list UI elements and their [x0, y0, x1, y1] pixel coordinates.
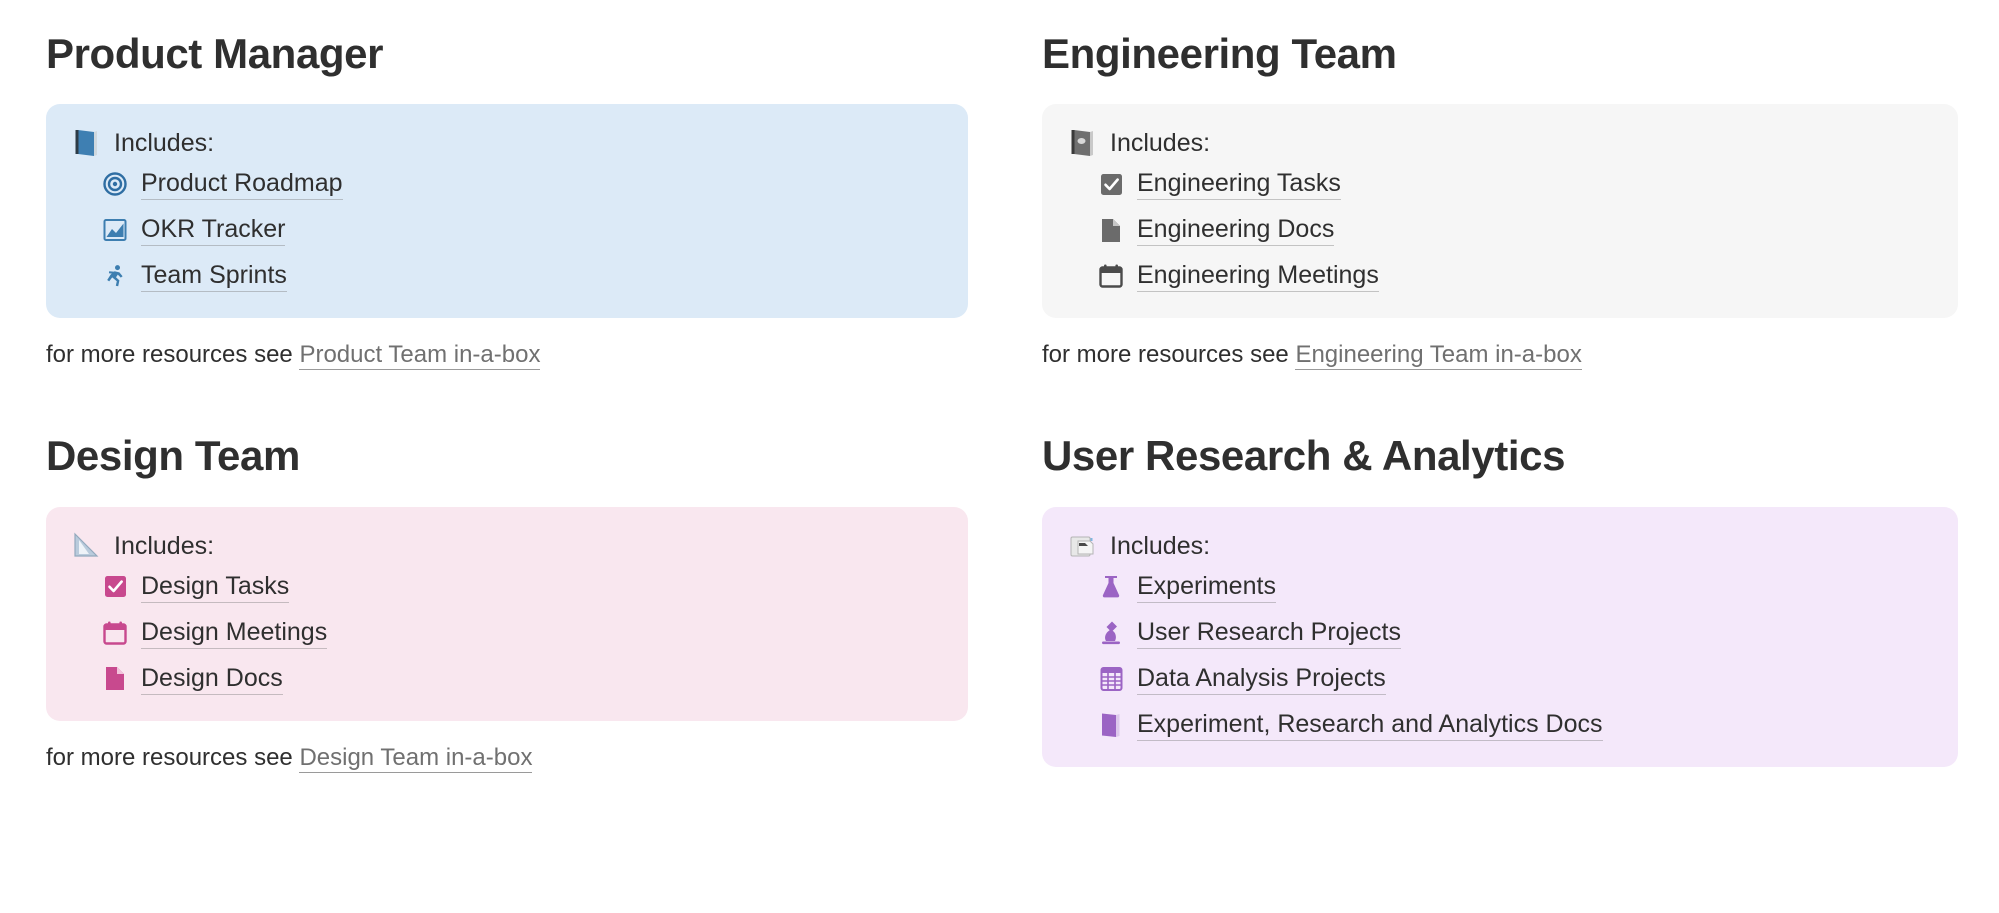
- list-item[interactable]: Engineering Docs: [1098, 214, 1932, 246]
- runner-icon: [102, 262, 128, 290]
- footer-prefix: for more resources see: [46, 744, 293, 771]
- includes-label: Includes:: [114, 126, 214, 160]
- item-list-user-research-analytics: Experiments User Research Projects: [1068, 571, 1932, 741]
- list-item-label: Data Analysis Projects: [1137, 663, 1386, 695]
- list-item[interactable]: Experiments: [1098, 571, 1932, 603]
- footer-prefix: for more resources see: [46, 341, 293, 368]
- page-title-engineering-team: Engineering Team: [1042, 30, 1958, 78]
- flask-icon: [1098, 573, 1124, 601]
- card-user-research-analytics: Includes: Experiments: [1042, 507, 1958, 767]
- list-item-label: Team Sprints: [141, 260, 287, 292]
- item-list-engineering-team: Engineering Tasks Engineering Docs: [1068, 168, 1932, 292]
- section-product-manager: Product Manager Includes:: [46, 30, 968, 370]
- card-design-team: Includes: Design Tasks: [46, 507, 968, 721]
- list-item-label: Engineering Docs: [1137, 214, 1334, 246]
- target-icon: [102, 170, 128, 198]
- item-list-design-team: Design Tasks Design Meetings: [72, 571, 942, 695]
- triangular-ruler-icon: [72, 529, 102, 563]
- sections-grid: Product Manager Includes:: [0, 0, 1999, 773]
- list-item-label: Product Roadmap: [141, 168, 343, 200]
- includes-label: Includes:: [1110, 126, 1210, 160]
- section-engineering-team: Engineering Team Includes:: [1042, 30, 1958, 370]
- page-icon: [1098, 216, 1124, 244]
- page-title-product-manager: Product Manager: [46, 30, 968, 78]
- section-user-research-analytics: User Research & Analytics Includes:: [1042, 370, 1958, 772]
- calendar-icon: [102, 619, 128, 647]
- footer-link[interactable]: Design Team in-a-box: [299, 744, 532, 773]
- page-title-design-team: Design Team: [46, 432, 968, 480]
- list-item-label: Engineering Tasks: [1137, 168, 1341, 200]
- abacus-icon: [1098, 665, 1124, 693]
- includes-row: Includes:: [72, 126, 942, 160]
- includes-row: Includes:: [1068, 529, 1932, 563]
- footer-line: for more resources see Engineering Team …: [1042, 340, 1958, 370]
- list-item[interactable]: Experiment, Research and Analytics Docs: [1098, 709, 1932, 741]
- page-root: Product Manager Includes:: [0, 0, 1999, 913]
- list-item-label: Engineering Meetings: [1137, 260, 1379, 292]
- list-item-label: Design Meetings: [141, 617, 327, 649]
- notebook-icon: [1068, 126, 1098, 160]
- list-item[interactable]: Design Docs: [102, 663, 942, 695]
- list-item[interactable]: User Research Projects: [1098, 617, 1932, 649]
- list-item[interactable]: Design Meetings: [102, 617, 942, 649]
- list-item-label: Design Docs: [141, 663, 283, 695]
- list-item[interactable]: Engineering Meetings: [1098, 260, 1932, 292]
- footer-line: for more resources see Design Team in-a-…: [46, 743, 968, 773]
- list-item[interactable]: Team Sprints: [102, 260, 942, 292]
- check-box-icon: [102, 573, 128, 601]
- card-engineering-team: Includes: Engineering Tasks: [1042, 104, 1958, 318]
- list-item-label: OKR Tracker: [141, 214, 285, 246]
- includes-row: Includes:: [72, 529, 942, 563]
- item-list-product-manager: Product Roadmap OKR Tracker: [72, 168, 942, 292]
- calendar-icon: [1098, 262, 1124, 290]
- section-design-team: Design Team Includes:: [46, 370, 968, 772]
- column-gap: [968, 30, 1042, 370]
- footer-link[interactable]: Engineering Team in-a-box: [1295, 341, 1581, 370]
- footer-line: for more resources see Product Team in-a…: [46, 340, 968, 370]
- list-item[interactable]: Engineering Tasks: [1098, 168, 1932, 200]
- card-product-manager: Includes: Product Roadmap: [46, 104, 968, 318]
- footer-link[interactable]: Product Team in-a-box: [299, 341, 540, 370]
- list-item[interactable]: Design Tasks: [102, 571, 942, 603]
- list-item[interactable]: OKR Tracker: [102, 214, 942, 246]
- list-item-label: Experiments: [1137, 571, 1276, 603]
- includes-label: Includes:: [114, 529, 214, 563]
- page-title-user-research-analytics: User Research & Analytics: [1042, 432, 1958, 480]
- microscope-icon: [1098, 619, 1124, 647]
- check-box-icon: [1098, 170, 1124, 198]
- chart-increasing-icon: [102, 216, 128, 244]
- card-index-divider-icon: [1068, 529, 1098, 563]
- list-item-label: User Research Projects: [1137, 617, 1401, 649]
- footer-prefix: for more resources see: [1042, 341, 1289, 368]
- notebook-icon: [1098, 711, 1124, 739]
- list-item[interactable]: Data Analysis Projects: [1098, 663, 1932, 695]
- blue-book-icon: [72, 126, 102, 160]
- includes-label: Includes:: [1110, 529, 1210, 563]
- page-icon: [102, 665, 128, 693]
- includes-row: Includes:: [1068, 126, 1932, 160]
- list-item-label: Design Tasks: [141, 571, 289, 603]
- list-item-label: Experiment, Research and Analytics Docs: [1137, 709, 1603, 741]
- list-item[interactable]: Product Roadmap: [102, 168, 942, 200]
